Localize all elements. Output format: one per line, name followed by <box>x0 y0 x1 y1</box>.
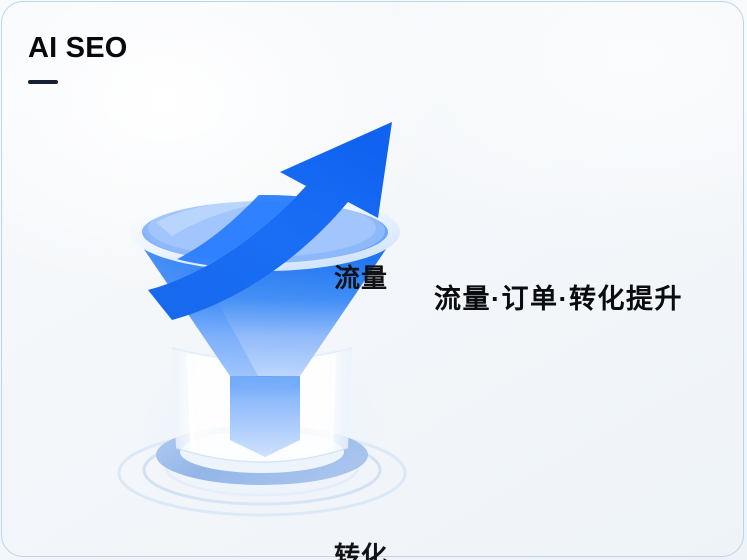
title-block: AI SEO <box>28 34 128 84</box>
page-title: AI SEO <box>28 34 128 63</box>
funnel-top-label: 流量 <box>334 258 388 295</box>
slide-canvas: AI SEO 流量·订单·转化提升 <box>0 0 747 560</box>
funnel-bottom-label: 转化 <box>334 536 388 560</box>
funnel-illustration: 流量 转化 <box>110 100 420 520</box>
title-underline-rule <box>28 80 58 84</box>
tagline-text: 流量·订单·转化提升 <box>434 277 683 316</box>
